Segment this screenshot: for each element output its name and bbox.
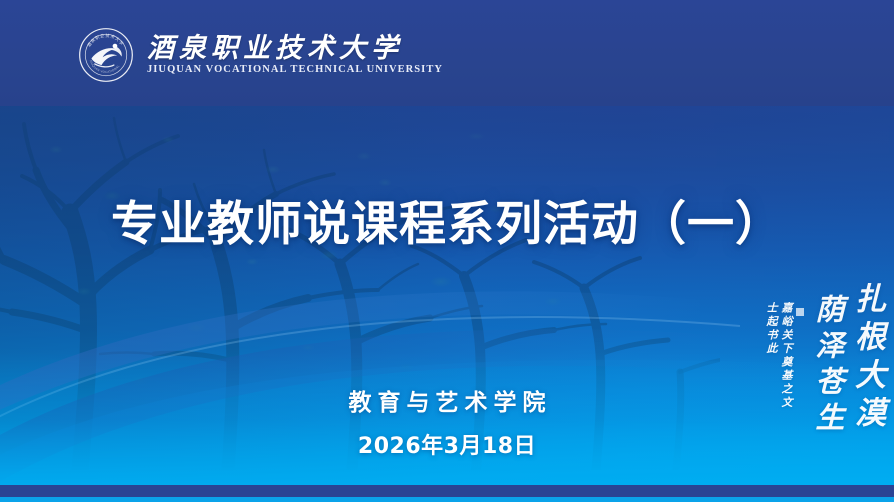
university-name-cn: 酒泉职业技术大学 <box>147 34 443 63</box>
calligraphy-column-middle: 荫泽苍生 <box>813 294 842 438</box>
header-band: 酒泉职业技术大学 JIUQUAN VOCATIONAL 酒泉职业技术大学 JIU… <box>0 0 894 106</box>
university-wordmark: 酒泉职业技术大学 JIUQUAN VOCATIONAL TECHNICAL UN… <box>147 34 443 76</box>
page-title: 专业教师说课程系列活动（一） <box>0 196 894 253</box>
calligraphy-inscription-left: 士起书此 <box>766 302 777 356</box>
university-emblem-icon: 酒泉职业技术大学 JIUQUAN VOCATIONAL <box>78 27 134 83</box>
seal-stamp-icon <box>796 308 804 316</box>
organization-name: 教育与艺术学院 <box>0 383 894 417</box>
calligraphy-column-right: 扎根大漠 <box>851 282 882 434</box>
bottom-navy-bar <box>0 485 894 497</box>
calligraphy-block: 士起书此 嘉峪关下奠基之文 荫泽苍生 扎根大漠 <box>766 282 882 438</box>
svg-text:酒泉职业技术大学: 酒泉职业技术大学 <box>85 32 125 48</box>
title-slide: 酒泉职业技术大学 JIUQUAN VOCATIONAL 酒泉职业技术大学 JIU… <box>0 0 894 502</box>
university-logo-lockup: 酒泉职业技术大学 JIUQUAN VOCATIONAL 酒泉职业技术大学 JIU… <box>78 27 443 83</box>
calligraphy-inscription-right: 嘉峪关下奠基之文 <box>781 302 792 410</box>
bottom-glow <box>0 352 894 502</box>
bottom-azure-bar <box>0 497 894 502</box>
calligraphy-inscription-group: 士起书此 嘉峪关下奠基之文 <box>766 302 804 410</box>
event-date: 2026年3月18日 <box>0 428 894 460</box>
university-name-en: JIUQUAN VOCATIONAL TECHNICAL UNIVERSITY <box>147 65 443 76</box>
